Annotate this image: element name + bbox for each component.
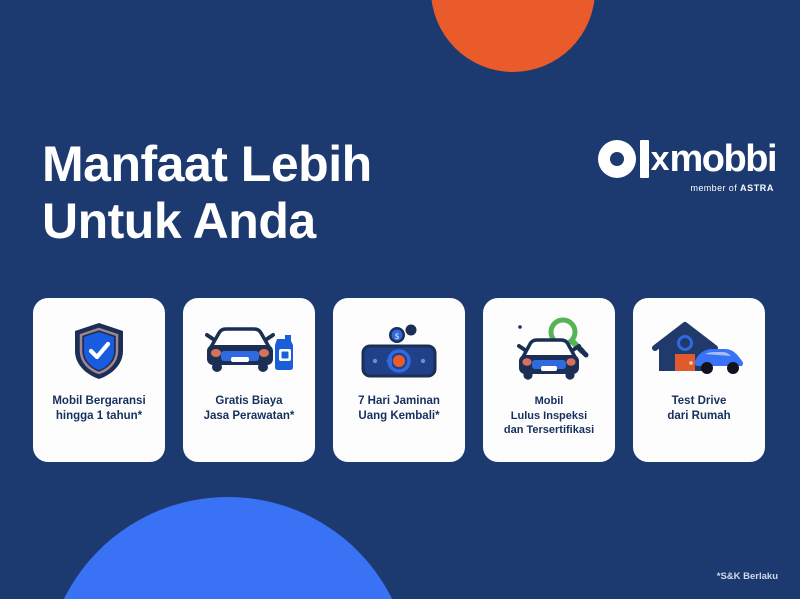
headline-line-2: Untuk Anda (42, 193, 372, 250)
benefits-card-row: Mobil Bergaransi hingga 1 tahun* (33, 298, 765, 462)
logo-o-icon (598, 140, 636, 178)
benefit-card-label: Gratis Biaya Jasa Perawatan* (200, 394, 299, 424)
benefit-card-label: 7 Hari Jaminan Uang Kembali* (354, 394, 444, 424)
logo-tagline: member of ASTRA (598, 183, 774, 193)
benefit-card-label: Test Drive dari Rumah (663, 394, 734, 424)
benefit-card-label: Mobil Lulus Inspeksi dan Tersertifikasi (500, 394, 598, 438)
benefit-card-test-drive[interactable]: Test Drive dari Rumah (633, 298, 765, 462)
brand-logo: x mobbi member of ASTRA (598, 138, 776, 193)
benefit-card-warranty[interactable]: Mobil Bergaransi hingga 1 tahun* (33, 298, 165, 462)
blue-circle-decoration (45, 497, 411, 599)
money-back-icon: $ (339, 308, 459, 394)
car-inspection-magnifier-icon (489, 308, 609, 394)
page-title: Manfaat Lebih Untuk Anda (42, 136, 372, 249)
terms-footnote: *S&K Berlaku (717, 571, 778, 582)
car-oil-service-icon (189, 308, 309, 394)
poster-canvas: Manfaat Lebih Untuk Anda x mobbi member … (0, 0, 800, 599)
logo-mark: x mobbi (598, 138, 776, 180)
benefit-card-label: Mobil Bergaransi hingga 1 tahun* (48, 394, 149, 424)
logo-wordmark: mobbi (670, 140, 776, 178)
shield-check-icon (39, 308, 159, 394)
benefit-card-money-back[interactable]: $ 7 Hari Jaminan Uang Kembali* (333, 298, 465, 462)
logo-tagline-brand: ASTRA (740, 183, 774, 193)
logo-x-letter: x (651, 142, 669, 176)
benefit-card-free-service[interactable]: Gratis Biaya Jasa Perawatan* (183, 298, 315, 462)
home-test-drive-icon (639, 308, 759, 394)
benefit-card-inspection[interactable]: Mobil Lulus Inspeksi dan Tersertifikasi (483, 298, 615, 462)
headline-line-1: Manfaat Lebih (42, 136, 372, 192)
logo-tagline-prefix: member of (690, 183, 740, 193)
orange-circle-decoration (431, 0, 595, 72)
logo-bar-icon (640, 140, 649, 178)
svg-text:$: $ (395, 332, 399, 341)
